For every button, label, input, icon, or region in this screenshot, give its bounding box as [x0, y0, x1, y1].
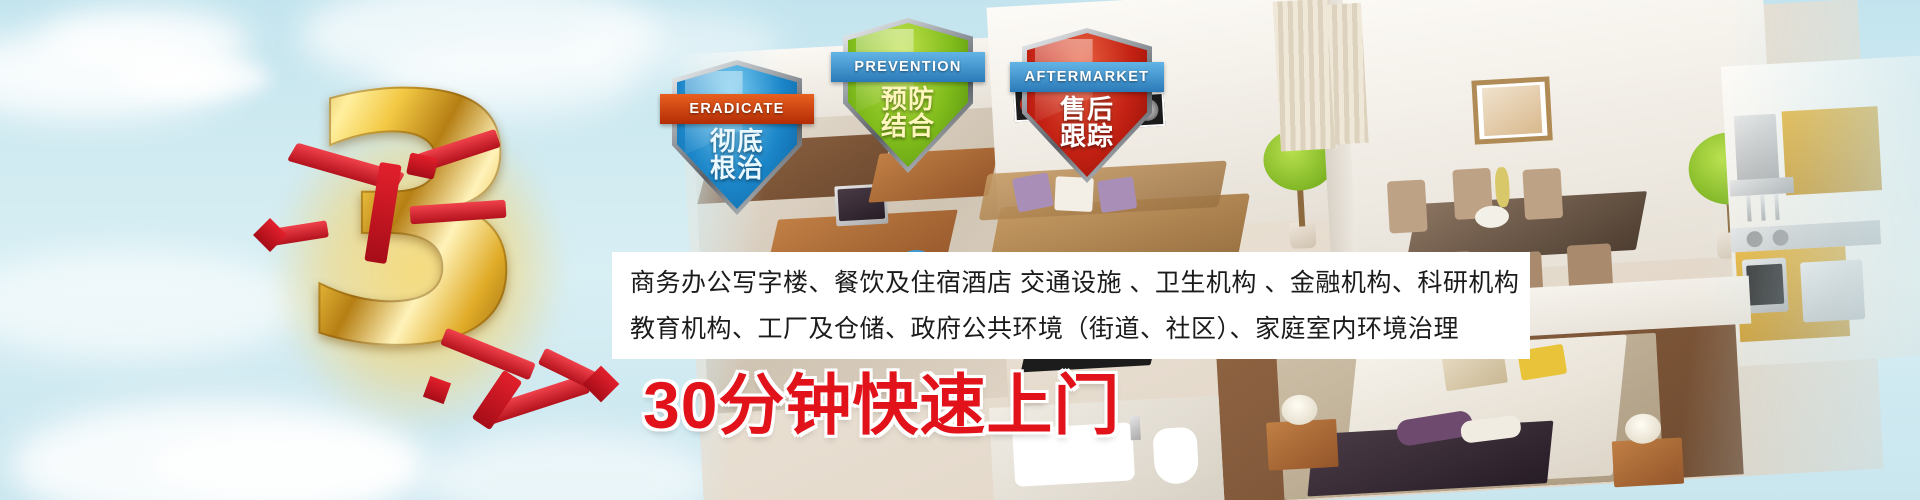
badge-sash: ERADICATE	[660, 94, 814, 124]
badge-chinese-label: 彻底 根治	[672, 128, 802, 181]
badge-aftermarket[interactable]: 售后 跟踪 AFTERMARKET	[1022, 28, 1152, 183]
service-scope-line-2: 教育机构、工厂及仓储、政府公共环境（街道、社区）、家庭室内环境治理	[630, 306, 1514, 352]
badge-sash-label: ERADICATE	[689, 101, 784, 117]
badge-sash-label: PREVENTION	[854, 59, 961, 75]
service-scope-textbox: 商务办公写字楼、餐饮及住宿酒店 交通设施 、卫生机构 、金融机构、科研机构 教育…	[612, 252, 1530, 359]
badge-cn-line2: 结合	[843, 113, 973, 140]
badge-chinese-label: 预防 结合	[843, 86, 973, 139]
badge-cn-line2: 跟踪	[1022, 123, 1152, 150]
headline-text: 30分钟快速上门	[643, 352, 1120, 448]
badge-sash: PREVENTION	[831, 52, 985, 82]
badge-sash-label: AFTERMARKET	[1025, 69, 1150, 85]
badge-prevention[interactable]: 预防 结合 PREVENTION	[843, 18, 973, 173]
golden-numeral-3: 3	[250, 95, 580, 445]
badge-sash: AFTERMARKET	[1010, 62, 1164, 92]
badge-cn-line1: 售后	[1022, 96, 1152, 123]
service-scope-line-1: 商务办公写字楼、餐饮及住宿酒店 交通设施 、卫生机构 、金融机构、科研机构	[630, 260, 1514, 306]
badge-cn-line1: 彻底	[672, 128, 802, 155]
promo-banner: 3 彻底 根治 ERADICATE	[0, 0, 1920, 500]
badge-eradicate[interactable]: 彻底 根治 ERADICATE	[672, 60, 802, 215]
badge-chinese-label: 售后 跟踪	[1022, 96, 1152, 149]
badge-cn-line1: 预防	[843, 86, 973, 113]
badge-cn-line2: 根治	[672, 155, 802, 182]
